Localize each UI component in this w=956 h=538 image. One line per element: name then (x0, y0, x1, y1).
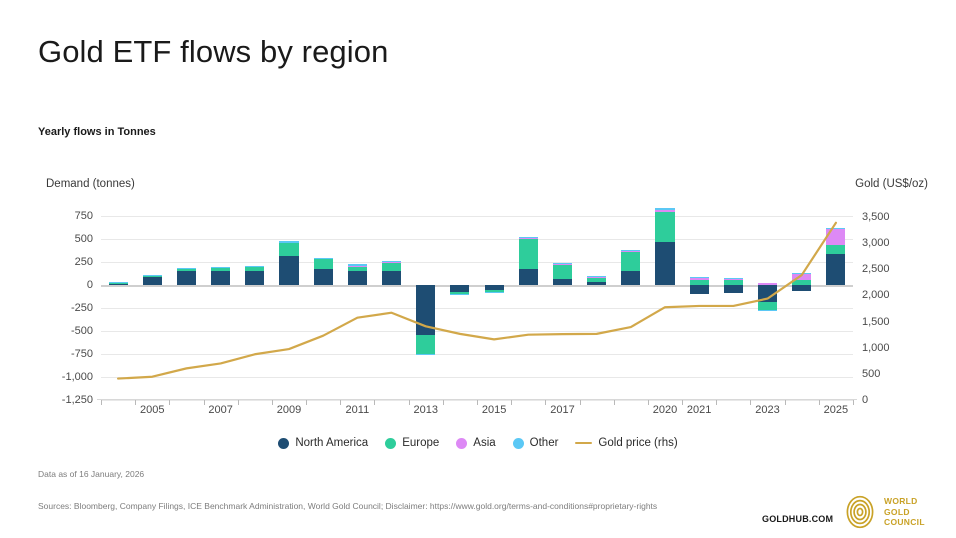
x-tick-label: 2013 (413, 404, 437, 416)
left-tick-label: 500 (35, 233, 93, 245)
legend-dot-icon (385, 438, 396, 449)
x-tick (409, 400, 410, 405)
x-tick (785, 400, 786, 405)
chart-subtitle: Yearly flows in Tonnes (38, 126, 156, 138)
x-tick (511, 400, 512, 405)
left-tick-label: -250 (35, 302, 93, 314)
x-tick (750, 400, 751, 405)
left-tick-label: -500 (35, 325, 93, 337)
right-tick-label: 3,500 (862, 211, 920, 223)
x-tick-label: 2007 (208, 404, 232, 416)
left-tick-label: 750 (35, 210, 93, 222)
x-tick (306, 400, 307, 405)
right-tick-label: 1,500 (862, 316, 920, 328)
chart-page: Gold ETF flows by region Yearly flows in… (0, 0, 956, 538)
legend-dot-icon (513, 438, 524, 449)
right-tick-label: 500 (862, 368, 920, 380)
x-tick-label: 2011 (346, 404, 370, 416)
x-tick (477, 400, 478, 405)
goldhub-wordmark: GOLDHUB.COM (762, 514, 833, 524)
sources-note: Sources: Bloomberg, Company Filings, ICE… (38, 500, 718, 512)
x-tick (545, 400, 546, 405)
wgc-wordmark: WORLD GOLD COUNCIL (884, 496, 925, 529)
x-tick (853, 400, 854, 405)
wgc-line-1: WORLD (884, 496, 925, 507)
wgc-line-2: GOLD (884, 507, 925, 518)
x-tick-label: 2005 (140, 404, 164, 416)
x-tick (238, 400, 239, 405)
x-tick (682, 400, 683, 405)
wgc-rings-icon (843, 495, 877, 529)
right-tick-label: 0 (862, 394, 920, 406)
right-axis-title: Gold (US$/oz) (855, 178, 928, 190)
x-tick-label: 2009 (277, 404, 301, 416)
right-tick-label: 2,000 (862, 289, 920, 301)
left-tick-label: 0 (35, 279, 93, 291)
x-tick-label: 2017 (550, 404, 574, 416)
page-title: Gold ETF flows by region (38, 34, 388, 70)
left-tick-label: -1,000 (35, 371, 93, 383)
legend-item[interactable]: Gold price (rhs) (575, 437, 677, 449)
legend-label: Asia (473, 437, 495, 449)
x-tick-label: 2015 (482, 404, 506, 416)
left-tick-label: 250 (35, 256, 93, 268)
x-tick-label: 2020 (653, 404, 677, 416)
wgc-line-3: COUNCIL (884, 517, 925, 528)
chart-legend: North AmericaEuropeAsiaOtherGold price (… (0, 437, 956, 449)
gold-price-line (101, 204, 853, 400)
left-axis-title: Demand (tonnes) (46, 178, 135, 190)
x-tick (443, 400, 444, 405)
x-tick (272, 400, 273, 405)
right-tick-label: 2,500 (862, 263, 920, 275)
gold-price-polyline (118, 223, 836, 379)
legend-line-icon (575, 442, 592, 445)
legend-dot-icon (456, 438, 467, 449)
x-tick (374, 400, 375, 405)
x-tick (101, 400, 102, 405)
legend-label: North America (295, 437, 368, 449)
left-tick-label: -1,250 (35, 394, 93, 406)
x-tick (716, 400, 717, 405)
x-tick (204, 400, 205, 405)
world-gold-council-logo: WORLD GOLD COUNCIL (843, 495, 925, 529)
legend-label: Europe (402, 437, 439, 449)
legend-item[interactable]: Europe (385, 437, 439, 449)
x-tick (580, 400, 581, 405)
right-tick-label: 1,000 (862, 342, 920, 354)
legend-label: Other (530, 437, 559, 449)
plot-area (101, 204, 853, 400)
legend-item[interactable]: North America (278, 437, 368, 449)
legend-label: Gold price (rhs) (598, 437, 677, 449)
x-tick (340, 400, 341, 405)
left-tick-label: -750 (35, 348, 93, 360)
x-tick (135, 400, 136, 405)
x-tick-label: 2021 (687, 404, 711, 416)
x-tick (648, 400, 649, 405)
legend-item[interactable]: Other (513, 437, 559, 449)
x-tick-label: 2023 (755, 404, 779, 416)
right-tick-label: 3,000 (862, 237, 920, 249)
legend-dot-icon (278, 438, 289, 449)
data-as-of-note: Data as of 16 January, 2026 (38, 469, 144, 479)
legend-item[interactable]: Asia (456, 437, 495, 449)
x-tick (614, 400, 615, 405)
x-tick-label: 2025 (824, 404, 848, 416)
x-tick (819, 400, 820, 405)
x-tick (169, 400, 170, 405)
